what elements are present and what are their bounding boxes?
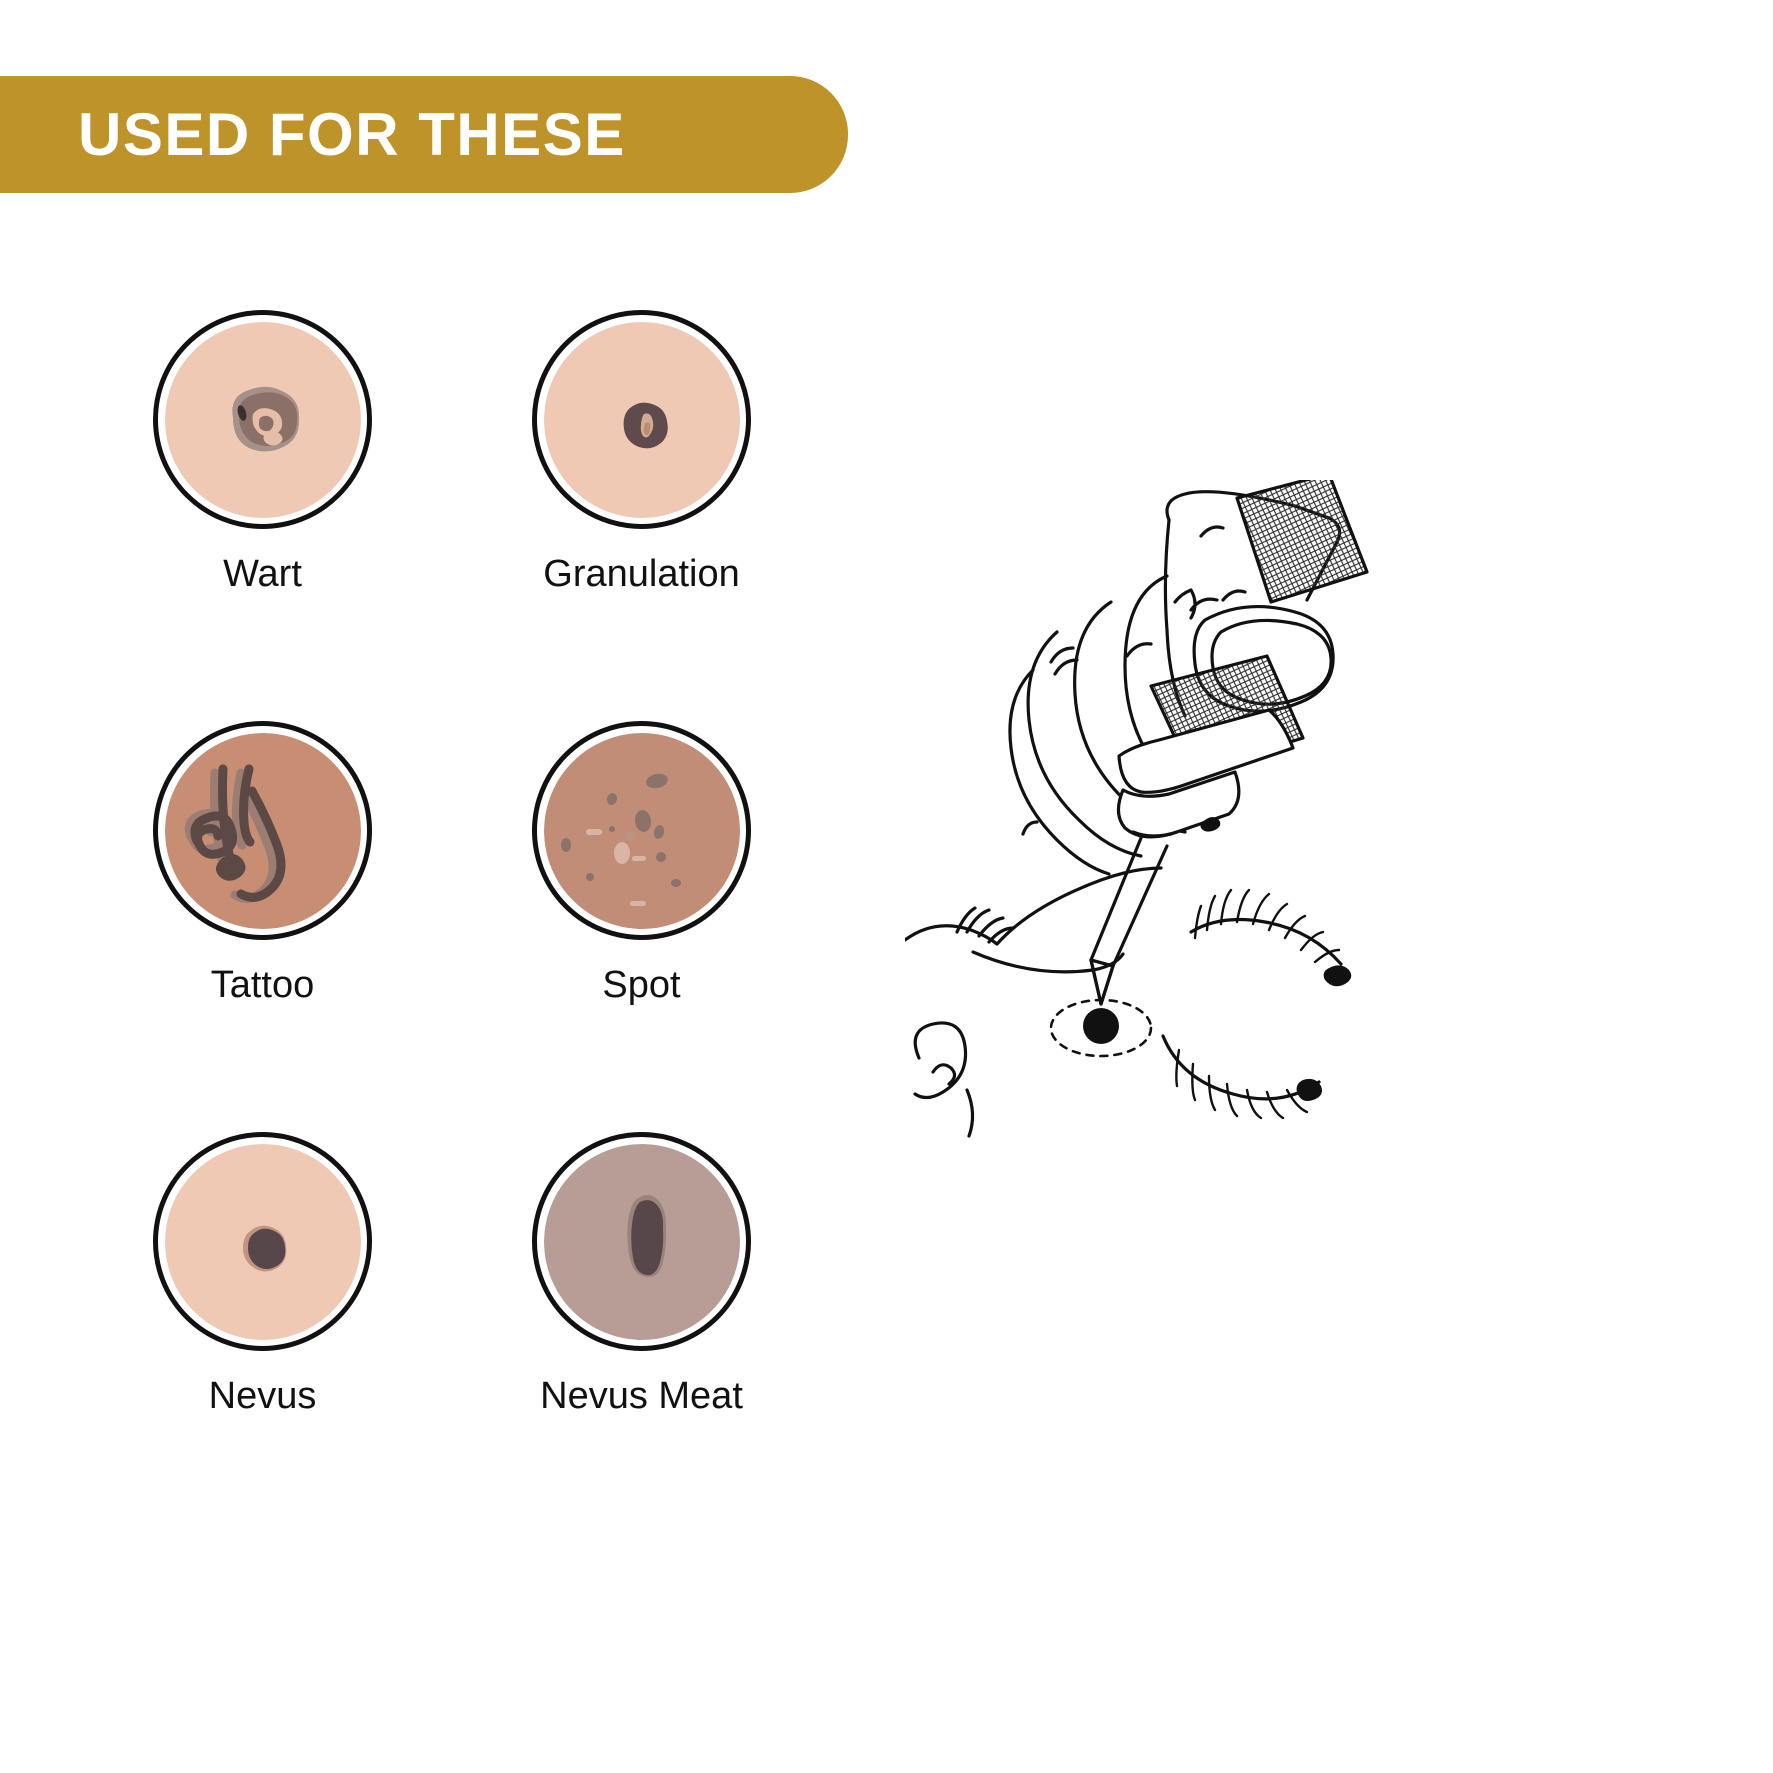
freckle-spots-icon: [544, 733, 740, 929]
target-mole-dot: [1083, 1008, 1119, 1044]
page-title: USED FOR THESE: [78, 105, 626, 165]
header-banner: USED FOR THESE: [0, 76, 848, 193]
sample-circle-wart: [153, 310, 372, 529]
sample-cell-granulation[interactable]: Granulation: [529, 310, 754, 593]
sample-label-wart: Wart: [223, 555, 302, 593]
sample-cell-spot[interactable]: Spot: [529, 721, 754, 1004]
hand-holding-plasma-pen-illustration: [905, 480, 1465, 1160]
sample-circle-nevus: [153, 1132, 372, 1351]
wart-lesion-icon: [165, 322, 361, 518]
samples-row: Wart Granulation: [150, 310, 830, 593]
sample-circle-nevus-meat: [532, 1132, 751, 1351]
tattoo-ink-icon: [165, 733, 361, 929]
sample-label-tattoo: Tattoo: [211, 966, 315, 1004]
sample-circle-spot: [532, 721, 751, 940]
samples-row: Tattoo: [150, 721, 830, 1004]
sample-label-spot: Spot: [602, 966, 680, 1004]
sample-cell-nevus[interactable]: Nevus: [150, 1132, 375, 1415]
samples-grid: Wart Granulation: [150, 310, 830, 1415]
sample-label-nevus: Nevus: [209, 1377, 317, 1415]
row-spacer: [150, 1004, 830, 1132]
raised-nevus-icon: [544, 1144, 740, 1340]
sample-label-granulation: Granulation: [543, 555, 739, 593]
nevus-mole-icon: [165, 1144, 361, 1340]
row-spacer: [150, 593, 830, 721]
samples-row: Nevus Nevus Meat: [150, 1132, 830, 1415]
sample-cell-nevus-meat[interactable]: Nevus Meat: [529, 1132, 754, 1415]
sample-cell-tattoo[interactable]: Tattoo: [150, 721, 375, 1004]
sample-label-nevus-meat: Nevus Meat: [540, 1377, 743, 1415]
sample-cell-wart[interactable]: Wart: [150, 310, 375, 593]
sample-circle-tattoo: [153, 721, 372, 940]
sample-circle-granulation: [532, 310, 751, 529]
granulation-lesion-icon: [544, 322, 740, 518]
